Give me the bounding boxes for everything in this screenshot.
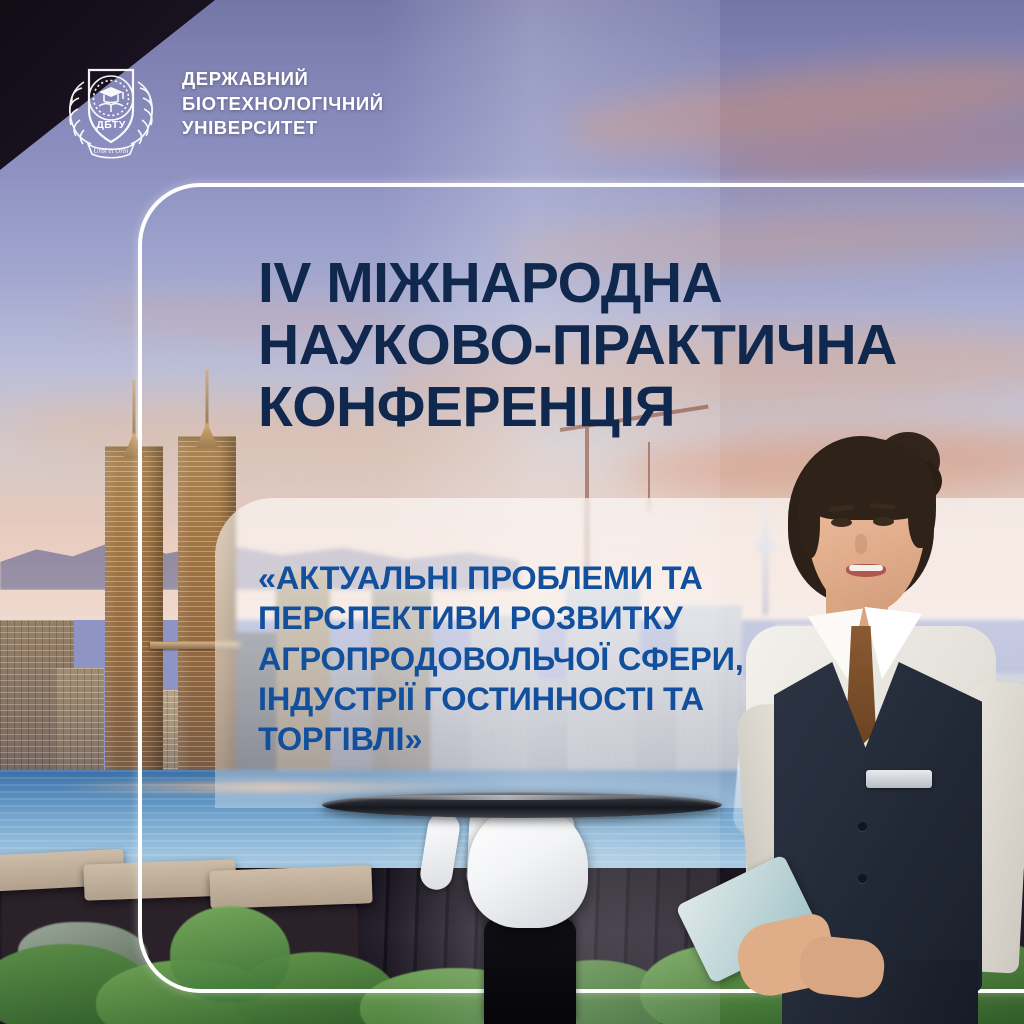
crest-abbreviation: ДБТУ — [96, 119, 125, 131]
title-line-2: НАУКОВО-ПРАКТИЧНА — [258, 314, 998, 376]
waiter-sleeve-cuff — [484, 918, 576, 1024]
hair-side — [798, 474, 820, 558]
serving-tray — [322, 792, 722, 818]
university-name-line-3: УНІВЕРСИТЕТ — [182, 116, 384, 141]
title-line-1: IV МІЖНАРОДНА — [258, 252, 998, 314]
eye — [831, 518, 852, 527]
university-name: ДЕРЖАВНИЙ БІОТЕХНОЛОГІЧНИЙ УНІВЕРСИТЕТ — [182, 67, 384, 141]
subtitle-line-3: АГРОПРОДОВОЛЬЧОЇ СФЕРИ, — [258, 639, 758, 679]
subtitle-line-2: ПЕРСПЕКТИВИ РОЗВИТКУ — [258, 598, 758, 638]
university-crest-icon: ДБТУ Urbi et Orbi — [58, 48, 164, 160]
university-name-line-1: ДЕРЖАВНИЙ — [182, 67, 384, 92]
hair-side — [908, 470, 936, 548]
vest-button — [858, 822, 867, 831]
conference-theme: «АКТУАЛЬНІ ПРОБЛЕМИ ТА ПЕРСПЕКТИВИ РОЗВИ… — [258, 558, 758, 759]
conference-poster: ДБТУ Urbi et Orbi ДЕРЖАВНИЙ БІОТЕХНОЛОГІ… — [0, 0, 1024, 1024]
conference-title: IV МІЖНАРОДНА НАУКОВО-ПРАКТИЧНА КОНФЕРЕН… — [258, 252, 998, 438]
subtitle-line-1: «АКТУАЛЬНІ ПРОБЛЕМИ ТА — [258, 558, 758, 598]
title-line-3: КОНФЕРЕНЦІЯ — [258, 376, 998, 438]
name-badge — [866, 770, 932, 788]
crest-motto: Urbi et Orbi — [94, 147, 129, 155]
subtitle-line-4: ІНДУСТРІЇ ГОСТИННОСТІ ТА — [258, 679, 758, 719]
glove-palm — [468, 806, 588, 928]
eye — [873, 517, 894, 526]
vest-button — [858, 874, 867, 883]
nose — [855, 534, 867, 554]
teeth — [849, 565, 883, 571]
subtitle-line-5: ТОРГІВЛІ» — [258, 719, 758, 759]
university-name-line-2: БІОТЕХНОЛОГІЧНИЙ — [182, 92, 384, 117]
university-branding: ДБТУ Urbi et Orbi ДЕРЖАВНИЙ БІОТЕХНОЛОГІ… — [58, 48, 384, 160]
